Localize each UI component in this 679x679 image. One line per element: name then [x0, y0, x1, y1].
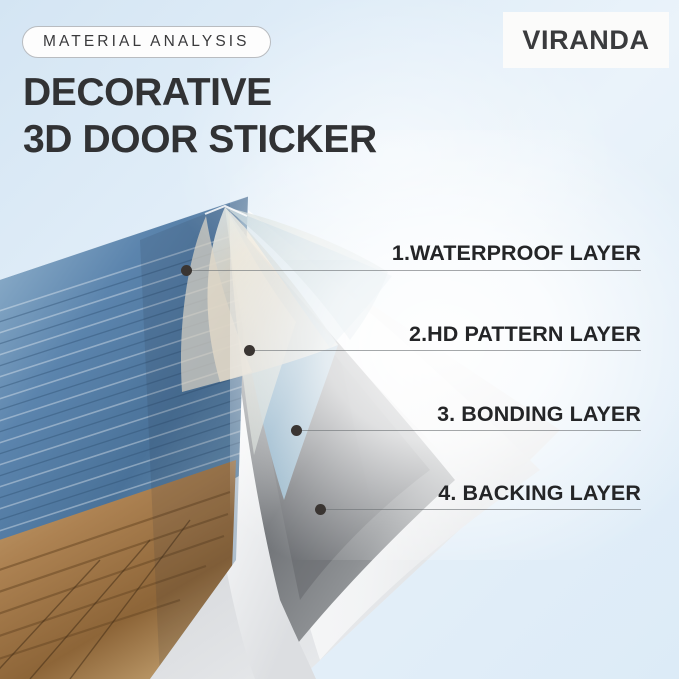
callout-dot-1 — [181, 265, 192, 276]
callout-leader-line-4 — [320, 509, 641, 510]
callout-dot-4 — [315, 504, 326, 515]
callout-dot-2 — [244, 345, 255, 356]
callout-label-hd-pattern-layer: 2.HD PATTERN LAYER — [409, 322, 641, 347]
callout-label-waterproof-layer: 1.WATERPROOF LAYER — [392, 241, 641, 266]
callout-leader-line-2 — [249, 350, 641, 351]
callout-leader-line-3 — [296, 430, 641, 431]
poster-canvas: MATERIAL ANALYSIS DECORATIVE 3D DOOR STI… — [0, 0, 679, 679]
callout-label-backing-layer: 4. BACKING LAYER — [438, 481, 641, 506]
callout-label-bonding-layer: 3. BONDING LAYER — [437, 402, 641, 427]
callout-dot-3 — [291, 425, 302, 436]
callout-leader-line-1 — [186, 270, 641, 271]
callout-group: 1.WATERPROOF LAYER 2.HD PATTERN LAYER 3.… — [0, 0, 679, 679]
